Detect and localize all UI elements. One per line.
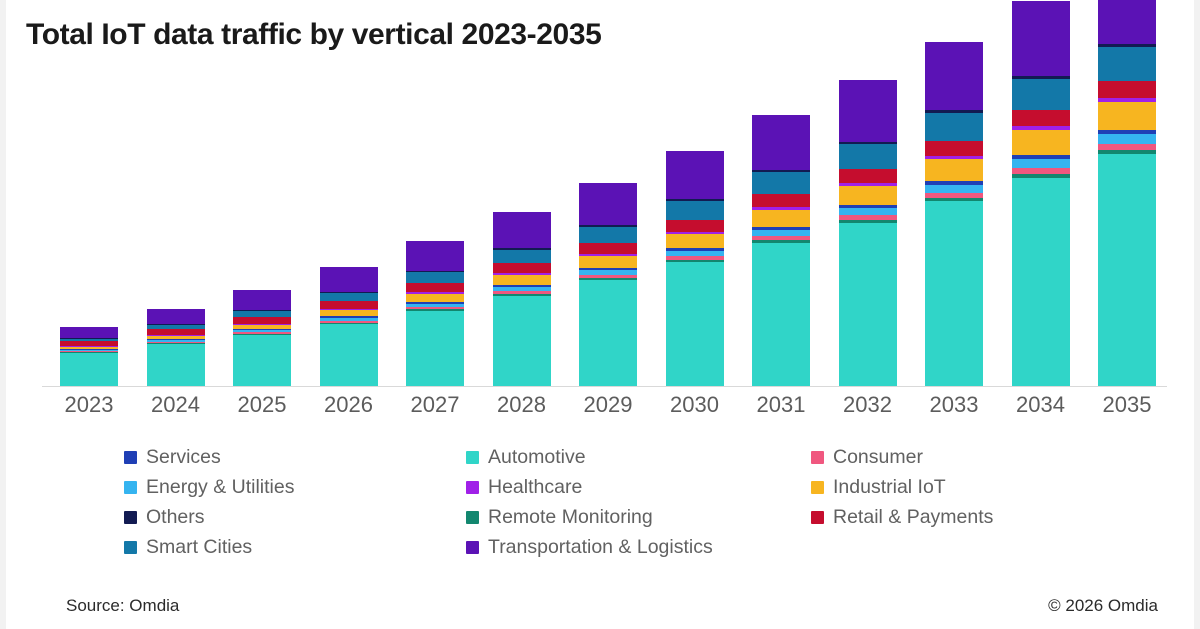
bar-segment[interactable]: [406, 272, 464, 283]
bar-column[interactable]: [752, 115, 810, 386]
legend-item[interactable]: Transportation & Logistics: [466, 538, 713, 558]
legend-swatch-icon: [124, 541, 137, 554]
legend-label: Smart Cities: [146, 538, 252, 558]
legend-label: Automotive: [488, 448, 586, 468]
bar-segment[interactable]: [1098, 134, 1156, 144]
bar-column[interactable]: [233, 290, 291, 386]
bar-segment[interactable]: [147, 344, 205, 386]
bar-segment[interactable]: [1012, 1, 1070, 76]
bar-segment[interactable]: [493, 296, 551, 386]
legend-item[interactable]: Services: [124, 448, 221, 468]
bar-segment[interactable]: [320, 301, 378, 309]
x-tick-label: 2030: [666, 392, 724, 418]
legend-item[interactable]: Remote Monitoring: [466, 508, 653, 528]
bar-segment[interactable]: [493, 212, 551, 248]
bar-column[interactable]: [406, 241, 464, 386]
bar-segment[interactable]: [1012, 130, 1070, 155]
legend-swatch-icon: [811, 481, 824, 494]
bar-segment[interactable]: [1098, 102, 1156, 130]
bar-segment[interactable]: [752, 194, 810, 207]
bar-segment[interactable]: [320, 293, 378, 301]
legend-swatch-icon: [124, 481, 137, 494]
x-tick-label: 2028: [493, 392, 551, 418]
bar-segment[interactable]: [1012, 159, 1070, 168]
legend-item[interactable]: Healthcare: [466, 478, 582, 498]
bar-segment[interactable]: [839, 186, 897, 205]
x-tick-label: 2024: [147, 392, 205, 418]
legend-swatch-icon: [466, 451, 479, 464]
x-tick-label: 2025: [233, 392, 291, 418]
bar-segment[interactable]: [1012, 110, 1070, 126]
bar-segment[interactable]: [925, 42, 983, 110]
plot-area: [36, 95, 1176, 387]
bar-segment[interactable]: [1012, 79, 1070, 110]
legend-swatch-icon: [124, 511, 137, 524]
legend-swatch-icon: [811, 511, 824, 524]
legend-item[interactable]: Automotive: [466, 448, 586, 468]
bar-segment[interactable]: [493, 250, 551, 263]
legend-label: Consumer: [833, 448, 923, 468]
bar-segment[interactable]: [233, 290, 291, 310]
bar-segment[interactable]: [839, 223, 897, 386]
bar-segment[interactable]: [666, 262, 724, 386]
legend-item[interactable]: Retail & Payments: [811, 508, 993, 528]
bar-column[interactable]: [147, 309, 205, 386]
x-tick-label: 2034: [1012, 392, 1070, 418]
bar-segment[interactable]: [147, 309, 205, 324]
x-axis-tick-labels: 2023202420252026202720282029203020312032…: [36, 392, 1176, 426]
bar-segment[interactable]: [925, 141, 983, 156]
bar-segment[interactable]: [666, 201, 724, 220]
bar-segment[interactable]: [320, 267, 378, 292]
legend-item[interactable]: Consumer: [811, 448, 923, 468]
legend-swatch-icon: [466, 511, 479, 524]
bar-segment[interactable]: [579, 227, 637, 243]
bar-segment[interactable]: [752, 243, 810, 386]
chart-page: Total IoT data traffic by vertical 2023-…: [0, 0, 1200, 629]
x-tick-label: 2032: [839, 392, 897, 418]
bar-segment[interactable]: [925, 113, 983, 141]
legend-item[interactable]: Smart Cities: [124, 538, 252, 558]
bar-segment[interactable]: [493, 263, 551, 273]
bar-segment[interactable]: [60, 327, 118, 338]
legend-label: Healthcare: [488, 478, 582, 498]
bar-segment[interactable]: [752, 115, 810, 170]
legend-label: Retail & Payments: [833, 508, 993, 528]
bar-segment[interactable]: [406, 311, 464, 386]
bar-segment[interactable]: [666, 151, 724, 199]
legend-swatch-icon: [466, 481, 479, 494]
bar-column[interactable]: [925, 42, 983, 386]
bar-segment[interactable]: [406, 283, 464, 292]
x-tick-label: 2031: [752, 392, 810, 418]
bar-column[interactable]: [666, 151, 724, 386]
bar-column[interactable]: [493, 212, 551, 386]
bar-column[interactable]: [320, 267, 378, 386]
bar-segment[interactable]: [233, 335, 291, 386]
bar-segment[interactable]: [406, 241, 464, 271]
bar-segment[interactable]: [1012, 178, 1070, 386]
legend-item[interactable]: Energy & Utilities: [124, 478, 294, 498]
legend-label: Industrial IoT: [833, 478, 946, 498]
bar-segment[interactable]: [839, 144, 897, 169]
bar-segment[interactable]: [60, 353, 118, 386]
x-tick-label: 2026: [320, 392, 378, 418]
bar-segment[interactable]: [839, 169, 897, 183]
bar-column[interactable]: [1012, 1, 1070, 386]
bar-segment[interactable]: [493, 275, 551, 285]
bar-column[interactable]: [60, 327, 118, 386]
legend-swatch-icon: [466, 541, 479, 554]
bar-segment[interactable]: [666, 234, 724, 248]
bar-column[interactable]: [1098, 0, 1156, 386]
bar-segment[interactable]: [839, 208, 897, 215]
bar-segment[interactable]: [752, 210, 810, 227]
legend-item[interactable]: Industrial IoT: [811, 478, 946, 498]
page-title: Total IoT data traffic by vertical 2023-…: [26, 18, 601, 52]
copyright-note: © 2026 Omdia: [1048, 596, 1158, 616]
bar-segment[interactable]: [406, 294, 464, 302]
bar-segment[interactable]: [925, 185, 983, 193]
x-axis-line: [42, 386, 1167, 387]
x-tick-label: 2035: [1098, 392, 1156, 418]
legend-label: Remote Monitoring: [488, 508, 653, 528]
bar-segment[interactable]: [579, 280, 637, 386]
bar-segment[interactable]: [1098, 0, 1156, 44]
bar-segment[interactable]: [752, 172, 810, 194]
bar-segment[interactable]: [666, 220, 724, 232]
x-tick-label: 2029: [579, 392, 637, 418]
legend-label: Others: [146, 508, 205, 528]
bar-segment[interactable]: [233, 317, 291, 324]
x-tick-label: 2033: [925, 392, 983, 418]
legend-label: Services: [146, 448, 221, 468]
bar-segment[interactable]: [579, 243, 637, 254]
legend-swatch-icon: [124, 451, 137, 464]
legend-swatch-icon: [811, 451, 824, 464]
chart-legend: ServicesAutomotiveConsumerEnergy & Utili…: [124, 448, 1124, 566]
bar-segment[interactable]: [579, 256, 637, 268]
bar-segment[interactable]: [925, 201, 983, 386]
bar-segment[interactable]: [579, 183, 637, 225]
x-tick-label: 2023: [60, 392, 118, 418]
x-tick-label: 2027: [406, 392, 464, 418]
bar-segment[interactable]: [839, 80, 897, 142]
legend-label: Transportation & Logistics: [488, 538, 713, 558]
bar-column[interactable]: [839, 80, 897, 386]
bar-segment[interactable]: [1098, 47, 1156, 81]
source-note: Source: Omdia: [66, 596, 179, 616]
legend-item[interactable]: Others: [124, 508, 205, 528]
bar-segment[interactable]: [1098, 154, 1156, 386]
bar-segment[interactable]: [925, 159, 983, 181]
bar-segment[interactable]: [320, 324, 378, 386]
bar-segment[interactable]: [1098, 81, 1156, 98]
bar-column[interactable]: [579, 183, 637, 386]
legend-label: Energy & Utilities: [146, 478, 294, 498]
